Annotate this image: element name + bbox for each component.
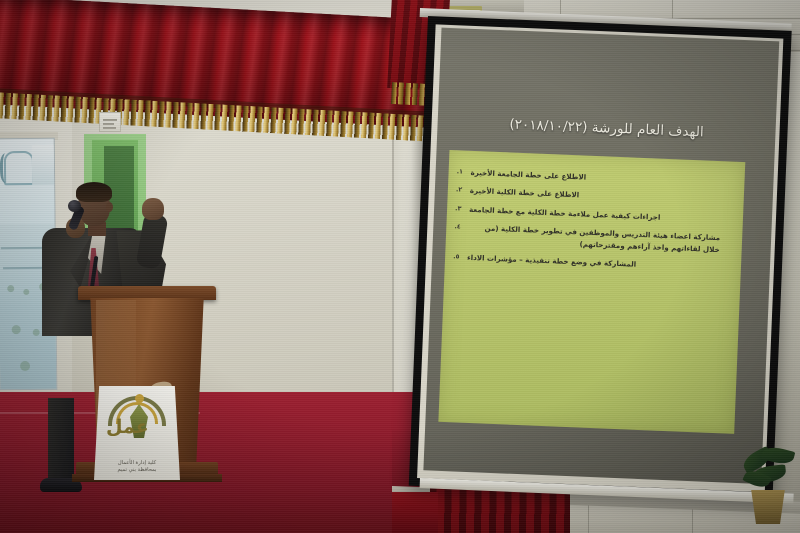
slide-content-box: الاطلاع على خطة الجامعة الأخيرة ١. الاطل… <box>438 150 745 434</box>
wall-notice-sign <box>99 112 121 132</box>
bullet-number: ٥. <box>453 252 461 261</box>
plaque-line-1: كلية إدارة الأعمال <box>118 460 156 466</box>
bullet-text: مشاركة اعضاء هيئة التدريس والموظفين في ت… <box>468 222 721 255</box>
list-item: المشاركة في وضع خطة تنفيذية – مؤشرات الا… <box>453 252 731 275</box>
speaker-ear <box>106 202 113 212</box>
projection-screen[interactable]: الهدف العام للورشة (٢٠١٨/١٠/٢٢) الاطلاع … <box>409 16 792 501</box>
slide-bullet-list: الاطلاع على خطة الجامعة الأخيرة ١. الاطل… <box>453 166 735 281</box>
bullet-text: اجراءات كيفية عمل ملاءمة خطة الكلية مع خ… <box>469 204 661 223</box>
bullet-number: ٤. <box>454 222 462 231</box>
logo-wordmark: عمل <box>106 416 146 442</box>
bullet-text: المشاركة في وضع خطة تنفيذية – مؤشرات الا… <box>467 252 637 270</box>
plaque-line-2: بمحافظة بني تميم <box>118 467 157 473</box>
speaker-hair <box>76 182 112 202</box>
podium-top <box>78 286 216 300</box>
projected-slide: الهدف العام للورشة (٢٠١٨/١٠/٢٢) الاطلاع … <box>423 28 779 484</box>
college-logo-icon: عمل <box>94 388 180 454</box>
speaker-raised-fist <box>142 198 164 220</box>
photo-scene: عمل كلية إدارة الأعمال بمحافظة بني تميم … <box>0 0 800 533</box>
podium-plaque-text: كلية إدارة الأعمال بمحافظة بني تميم <box>94 452 180 480</box>
microphone-head-icon <box>68 200 81 212</box>
bullet-number: ٢. <box>456 185 464 194</box>
list-item: مشاركة اعضاء هيئة التدريس والموظفين في ت… <box>454 222 733 256</box>
lower-stage-curtain-left <box>392 492 438 533</box>
slide-title: الهدف العام للورشة (٢٠١٨/١٠/٢٢) <box>437 113 775 143</box>
bullet-text: الاطلاع على خطة الكلية الأخيرة <box>470 185 580 201</box>
speaker-leg <box>48 398 74 486</box>
bullet-text: الاطلاع على خطة الجامعة الأخيرة <box>470 167 586 183</box>
bullet-number: ٣. <box>455 203 463 212</box>
bullet-number: ١. <box>456 166 464 175</box>
